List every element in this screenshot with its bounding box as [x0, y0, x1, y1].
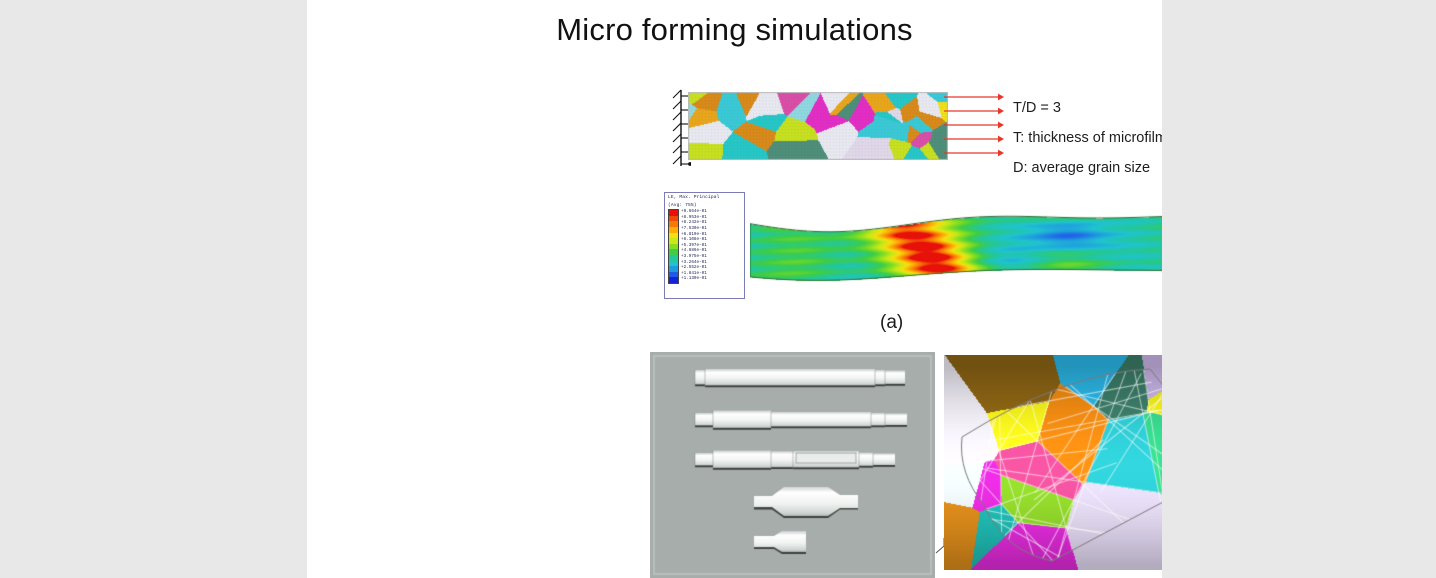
figure-canvas: Micro forming simulations — [307, 0, 1162, 578]
tensile-load-arrows — [944, 92, 1004, 164]
note-line: D: average grain size — [1013, 160, 1162, 176]
page-title: Micro forming simulations — [307, 12, 1162, 48]
polycrystal-cylinder-mesh — [944, 355, 1162, 570]
legend-value-list: +9.664e-01+8.953e-01+8.242e-01+7.530e-01… — [681, 209, 707, 284]
panel-a-notes: T/D = 3 T: thickness of microfilm D: ave… — [1013, 100, 1162, 176]
legend-value: +1.130e-01 — [681, 276, 707, 282]
legend-color-swatches — [668, 209, 679, 284]
note-line: T/D = 3 — [1013, 100, 1162, 116]
legend-le-max-principal: LE, Max. Principal (Avg: 75%) +9.664e-01… — [664, 192, 745, 299]
legend-swatch — [669, 277, 678, 283]
panel-a-label: (a) — [880, 312, 903, 334]
forming-stages-photo — [650, 352, 935, 578]
note-line: T: thickness of microfilm — [1013, 130, 1162, 146]
figure-root: Micro forming simulations — [0, 0, 1436, 578]
grain-structure-strip — [688, 92, 948, 160]
fixed-boundary-symbol — [659, 88, 691, 168]
legend-header-line2: (Avg: 75%) — [665, 201, 744, 209]
deformed-microfilm-contour — [750, 203, 1162, 295]
legend-header-line1: LE, Max. Principal — [665, 193, 744, 201]
